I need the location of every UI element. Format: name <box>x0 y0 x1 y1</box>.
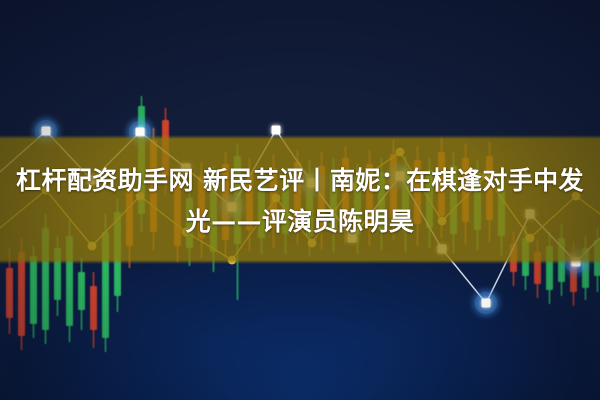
candle-body <box>30 256 37 324</box>
gold-band-top-feather <box>0 135 600 139</box>
candle-body <box>18 252 25 336</box>
primary-line-marker <box>482 299 491 308</box>
gold-band-bottom-feather <box>0 260 600 264</box>
banner-title-line-1: 杠杆配资助手网 新民艺评丨南妮：在棋逢对手中发 <box>0 160 600 201</box>
banner-title-block: 杠杆配资助手网 新民艺评丨南妮：在棋逢对手中发 光——评演员陈明昊 <box>0 160 600 242</box>
banner-title-line-2: 光——评演员陈明昊 <box>0 201 600 242</box>
candle-body <box>6 268 13 318</box>
banner-image: 杠杆配资助手网 新民艺评丨南妮：在棋逢对手中发 光——评演员陈明昊 <box>0 0 600 400</box>
candle-body <box>90 286 97 330</box>
candle-body <box>78 272 85 310</box>
primary-line-marker <box>272 126 281 135</box>
